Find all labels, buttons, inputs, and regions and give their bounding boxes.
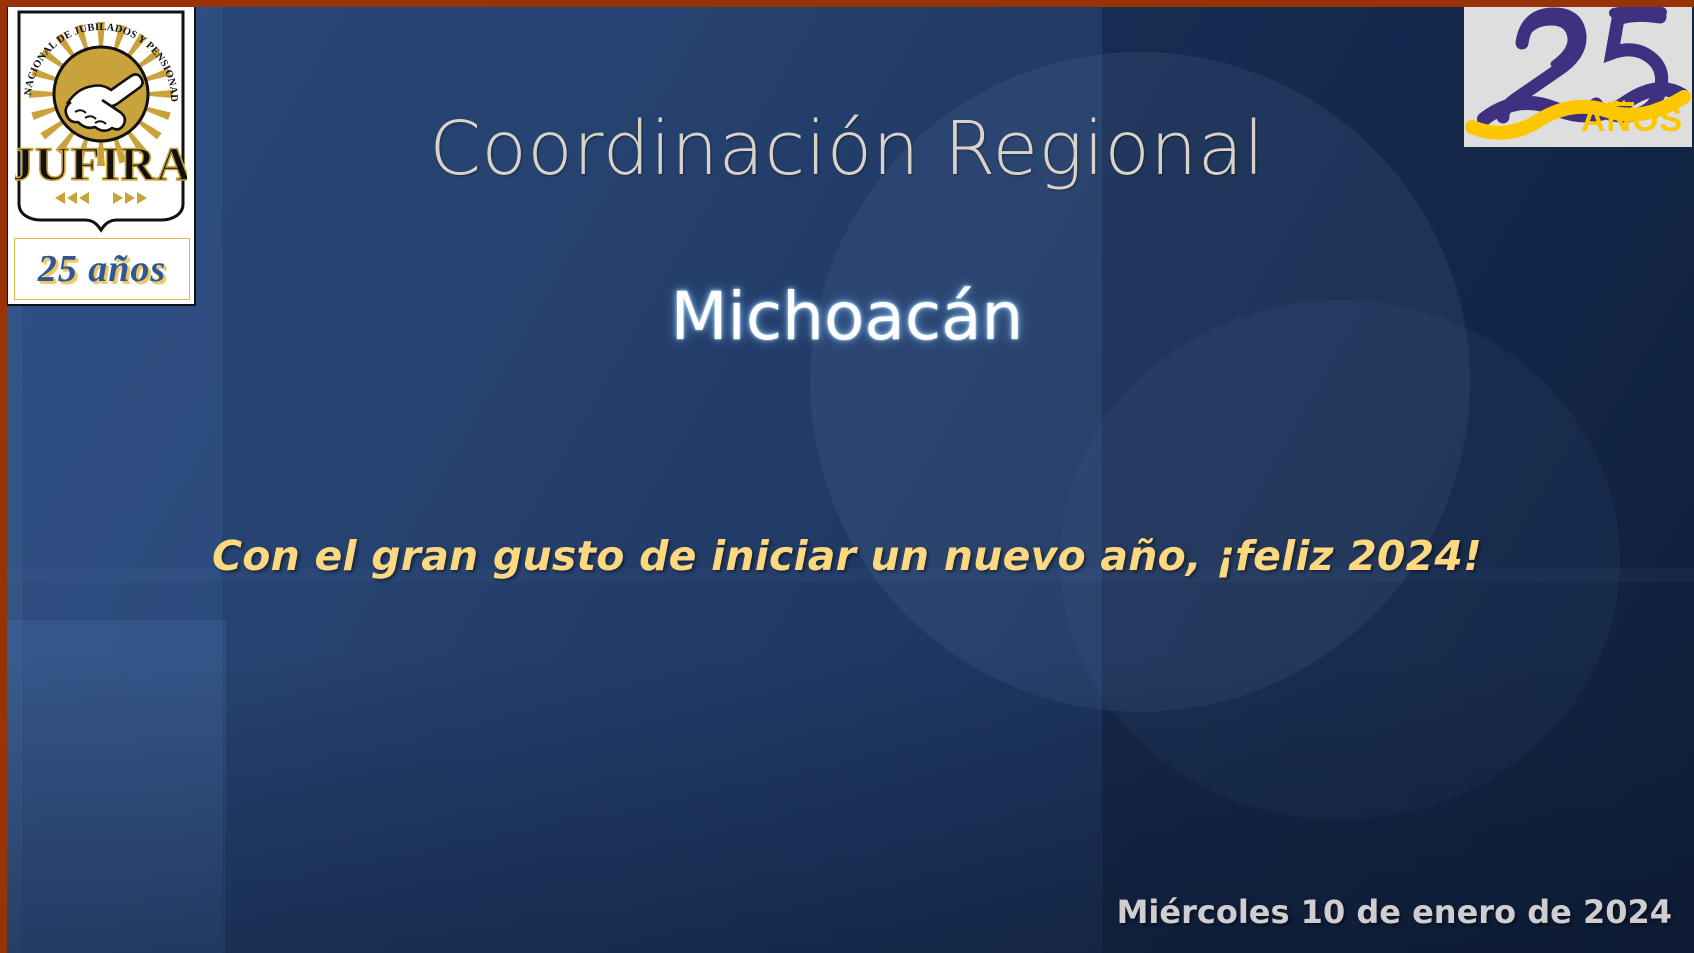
svg-text:JUFIRA: JUFIRA [15, 138, 187, 191]
slide-subtitle-region: Michoacán [0, 278, 1694, 355]
slide-frame-left-border [0, 0, 7, 953]
slide-date: Miércoles 10 de enero de 2024 [1117, 893, 1672, 931]
slide-greeting-message: Con el gran gusto de iniciar un nuevo añ… [0, 532, 1694, 580]
presentation-slide: ASOCIACION NACIONAL DE JUBILADOS Y PENSI… [0, 0, 1694, 953]
jufira-logo: ASOCIACION NACIONAL DE JUBILADOS Y PENSI… [6, 2, 196, 306]
slide-frame-top-border [0, 0, 1694, 7]
svg-text:AÑOS: AÑOS [1581, 101, 1683, 139]
slide-title: Coordinación Regional [0, 106, 1694, 192]
anniversary-25-icon: AÑOS [1464, 1, 1692, 147]
jufira-anniversary-caption: 25 años [14, 238, 190, 300]
jufira-crest-icon: ASOCIACION NACIONAL DE JUBILADOS Y PENSI… [15, 8, 187, 234]
anniversary-25-logo: AÑOS [1464, 1, 1692, 147]
jufira-anniversary-text: 25 años [38, 247, 166, 291]
